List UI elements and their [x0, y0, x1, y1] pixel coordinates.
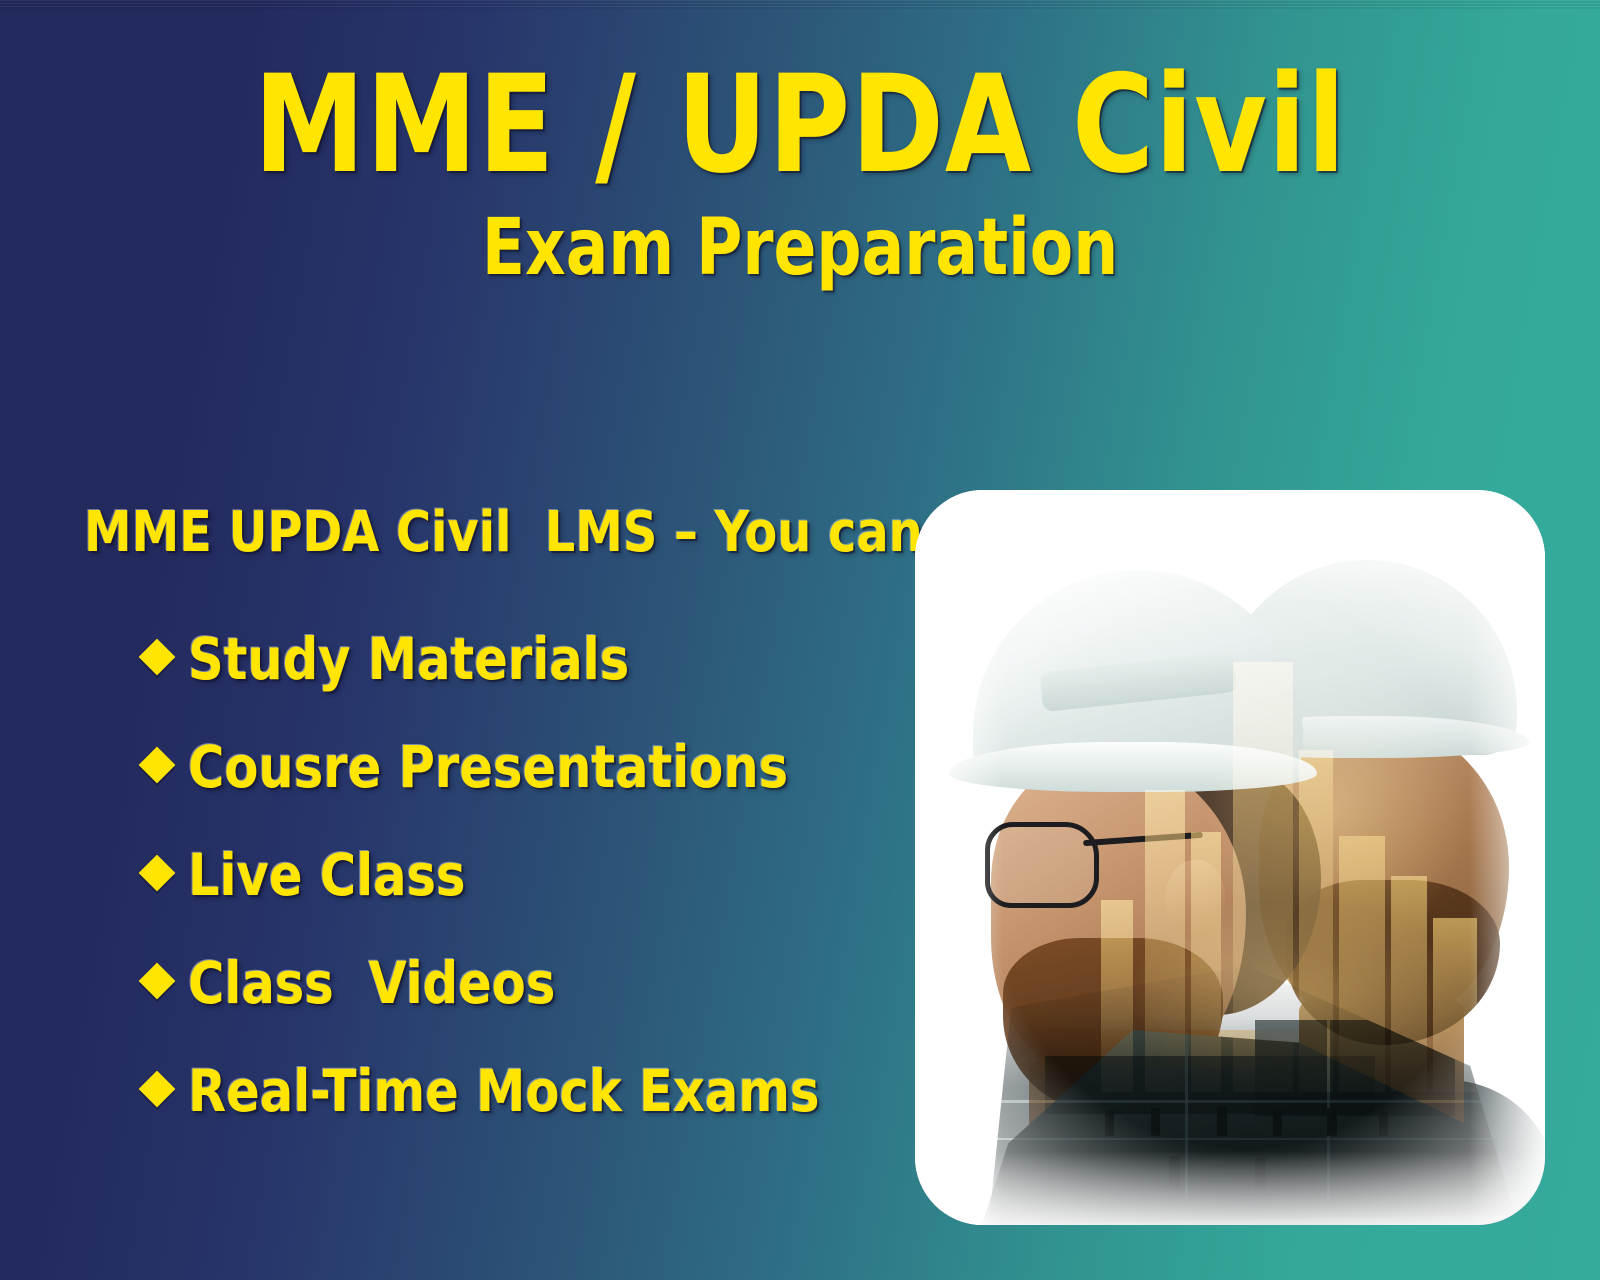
diamond-bullet-icon [139, 1071, 176, 1108]
diamond-bullet-icon [139, 855, 176, 892]
diamond-bullet-icon [139, 747, 176, 784]
poster-canvas: MME / UPDA Civil Exam Preparation MME UP… [0, 0, 1600, 1280]
feature-list: Study Materials Cousre Presentations Liv… [144, 605, 884, 1145]
list-item: Study Materials [144, 605, 884, 713]
page-title: MME / UPDA Civil [64, 0, 1536, 198]
figure-silhouette [1217, 1106, 1227, 1136]
figure-silhouette [1169, 1156, 1180, 1190]
feature-label: Study Materials [188, 630, 629, 688]
feature-label: Real-Time Mock Exams [188, 1062, 819, 1120]
figure-silhouette [1151, 1108, 1160, 1136]
figure-silhouette [1105, 1110, 1114, 1136]
street-line [1185, 1000, 1188, 1200]
figure-silhouette [1379, 1112, 1388, 1136]
list-item: Class Videos [144, 929, 884, 1037]
page-subtitle: Exam Preparation [80, 198, 1520, 292]
street-line [975, 1100, 1495, 1103]
features-block: MME UPDA Civil LMS – You can access Stud… [84, 505, 884, 1145]
double-exposure-photo [915, 490, 1545, 1225]
feature-label: Cousre Presentations [188, 738, 788, 796]
list-item: Real-Time Mock Exams [144, 1037, 884, 1145]
figure-silhouette [1327, 1108, 1337, 1136]
figure-silhouette [1273, 1110, 1282, 1136]
street-line [975, 1138, 1495, 1140]
diamond-bullet-icon [139, 639, 176, 676]
list-item: Cousre Presentations [144, 713, 884, 821]
diamond-bullet-icon [139, 963, 176, 1000]
lms-access-headline: MME UPDA Civil LMS – You can access [84, 505, 844, 561]
list-item: Live Class [144, 821, 884, 929]
heading-block: MME / UPDA Civil Exam Preparation [0, 0, 1600, 292]
feature-label: Class Videos [188, 954, 555, 1012]
feature-label: Live Class [188, 846, 466, 904]
glasses-icon [985, 822, 1099, 908]
photo-card [915, 490, 1545, 1225]
figure-silhouette [1255, 1158, 1266, 1190]
street-line [1327, 990, 1330, 1200]
